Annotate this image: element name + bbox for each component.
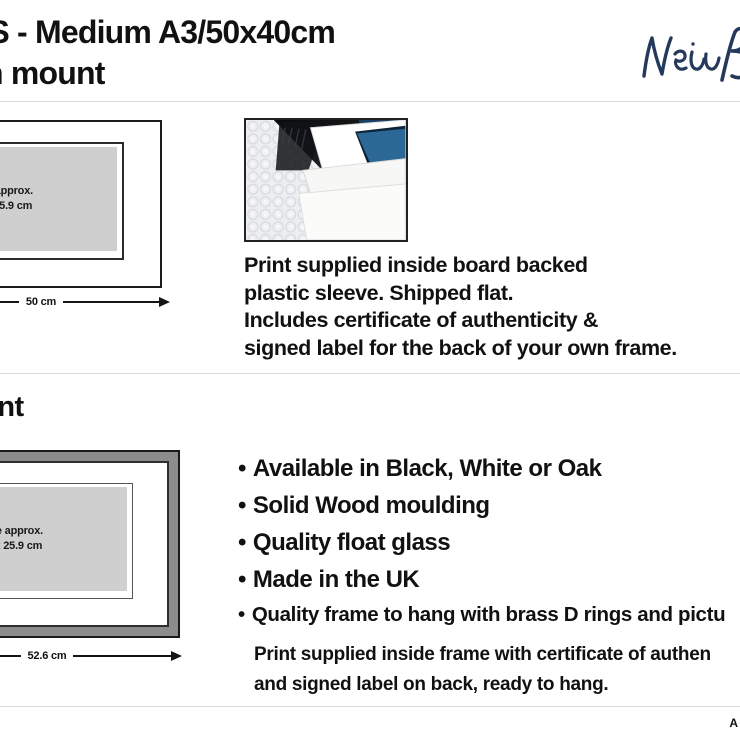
dimension-arrow-icon [171,651,182,661]
bullet-dot-icon: • [238,603,245,626]
list-item: •Available in Black, White or Oak [238,450,725,487]
frame-width-dimension: 52.6 cm [0,648,182,664]
frame-feature-list: •Available in Black, White or Oak •Solid… [238,450,725,632]
mount-supply-line-3: Includes certificate of authenticity & [244,307,677,335]
page-title-line-2: with mount [0,53,562,94]
mount-window-outline: Image approx. 38.9 x 25.9 cm [0,142,124,260]
page-title: ONS - Medium A3/50x40cm with mount [0,12,562,94]
frame-image-area: Image approx. 38.9 x 25.9 cm [0,487,127,591]
dimension-rule-right [63,301,160,303]
frame-moulding: Image approx. 38.9 x 25.9 cm [0,450,180,638]
corner-mark-label: A [729,716,738,730]
divider-bottom [0,706,740,708]
frame-window-outline: Image approx. 38.9 x 25.9 cm [0,483,133,599]
dimension-rule-right [73,655,172,657]
frame-diagram: Image approx. 38.9 x 25.9 cm [0,450,180,638]
mount-dimension-label: 50 cm [19,296,63,308]
divider-middle [0,373,740,375]
frame-supply-line-2: and signed label on back, ready to hang. [254,670,711,700]
artist-signature-logo: N [634,24,740,90]
frame-feature-label: Solid Wood moulding [253,492,490,519]
list-item: •Quality frame to hang with brass D ring… [238,598,725,632]
bullet-dot-icon: • [238,529,246,556]
frame-mount-board: Image approx. 38.9 x 25.9 cm [0,461,169,627]
frame-dimension-label: 52.6 cm [21,650,74,662]
list-item: •Quality float glass [238,524,725,561]
mount-board-outline: Image approx. 38.9 x 25.9 cm [0,120,162,288]
frame-feature-label: Quality float glass [253,529,450,556]
mount-image-area: Image approx. 38.9 x 25.9 cm [0,147,117,251]
mount-image-size-line-2: 38.9 x 25.9 cm [0,199,33,214]
frame-image-size-label: Image approx. 38.9 x 25.9 cm [0,524,43,554]
mount-supply-line-2: plastic sleeve. Shipped flat. [244,280,677,308]
frame-image-size-line-1: Image approx. [0,524,43,539]
frame-feature-label: Made in the UK [253,566,419,593]
mount-image-size-line-1: Image approx. [0,184,33,199]
frame-image-size-line-2: 38.9 x 25.9 cm [0,539,43,554]
bullet-dot-icon: • [238,566,246,593]
list-item: •Made in the UK [238,561,725,598]
list-item: •Solid Wood moulding [238,487,725,524]
mount-diagram: Image approx. 38.9 x 25.9 cm [0,120,162,288]
mount-supply-description: Print supplied inside board backed plast… [244,252,677,362]
mount-image-size-label: Image approx. 38.9 x 25.9 cm [0,184,33,214]
bullet-dot-icon: • [238,492,246,519]
product-photo-mount-sleeve [244,118,408,242]
frame-supply-line-1: Print supplied inside frame with certifi… [254,640,711,670]
dimension-rule-left [0,301,19,303]
bullet-dot-icon: • [238,455,246,482]
framed-print-heading: ed print [0,391,24,424]
divider-top [0,101,740,103]
frame-feature-label: Available in Black, White or Oak [253,455,602,482]
frame-feature-label: Quality frame to hang with brass D rings… [252,603,725,626]
mount-supply-line-4: signed label for the back of your own fr… [244,335,677,363]
mount-width-dimension: 50 cm [0,294,170,310]
dimension-arrow-icon [159,297,170,307]
dimension-rule-left [0,655,21,657]
mount-supply-line-1: Print supplied inside board backed [244,252,677,280]
page-title-line-1: ONS - Medium A3/50x40cm [0,12,562,53]
frame-supply-description: Print supplied inside frame with certifi… [254,640,711,700]
